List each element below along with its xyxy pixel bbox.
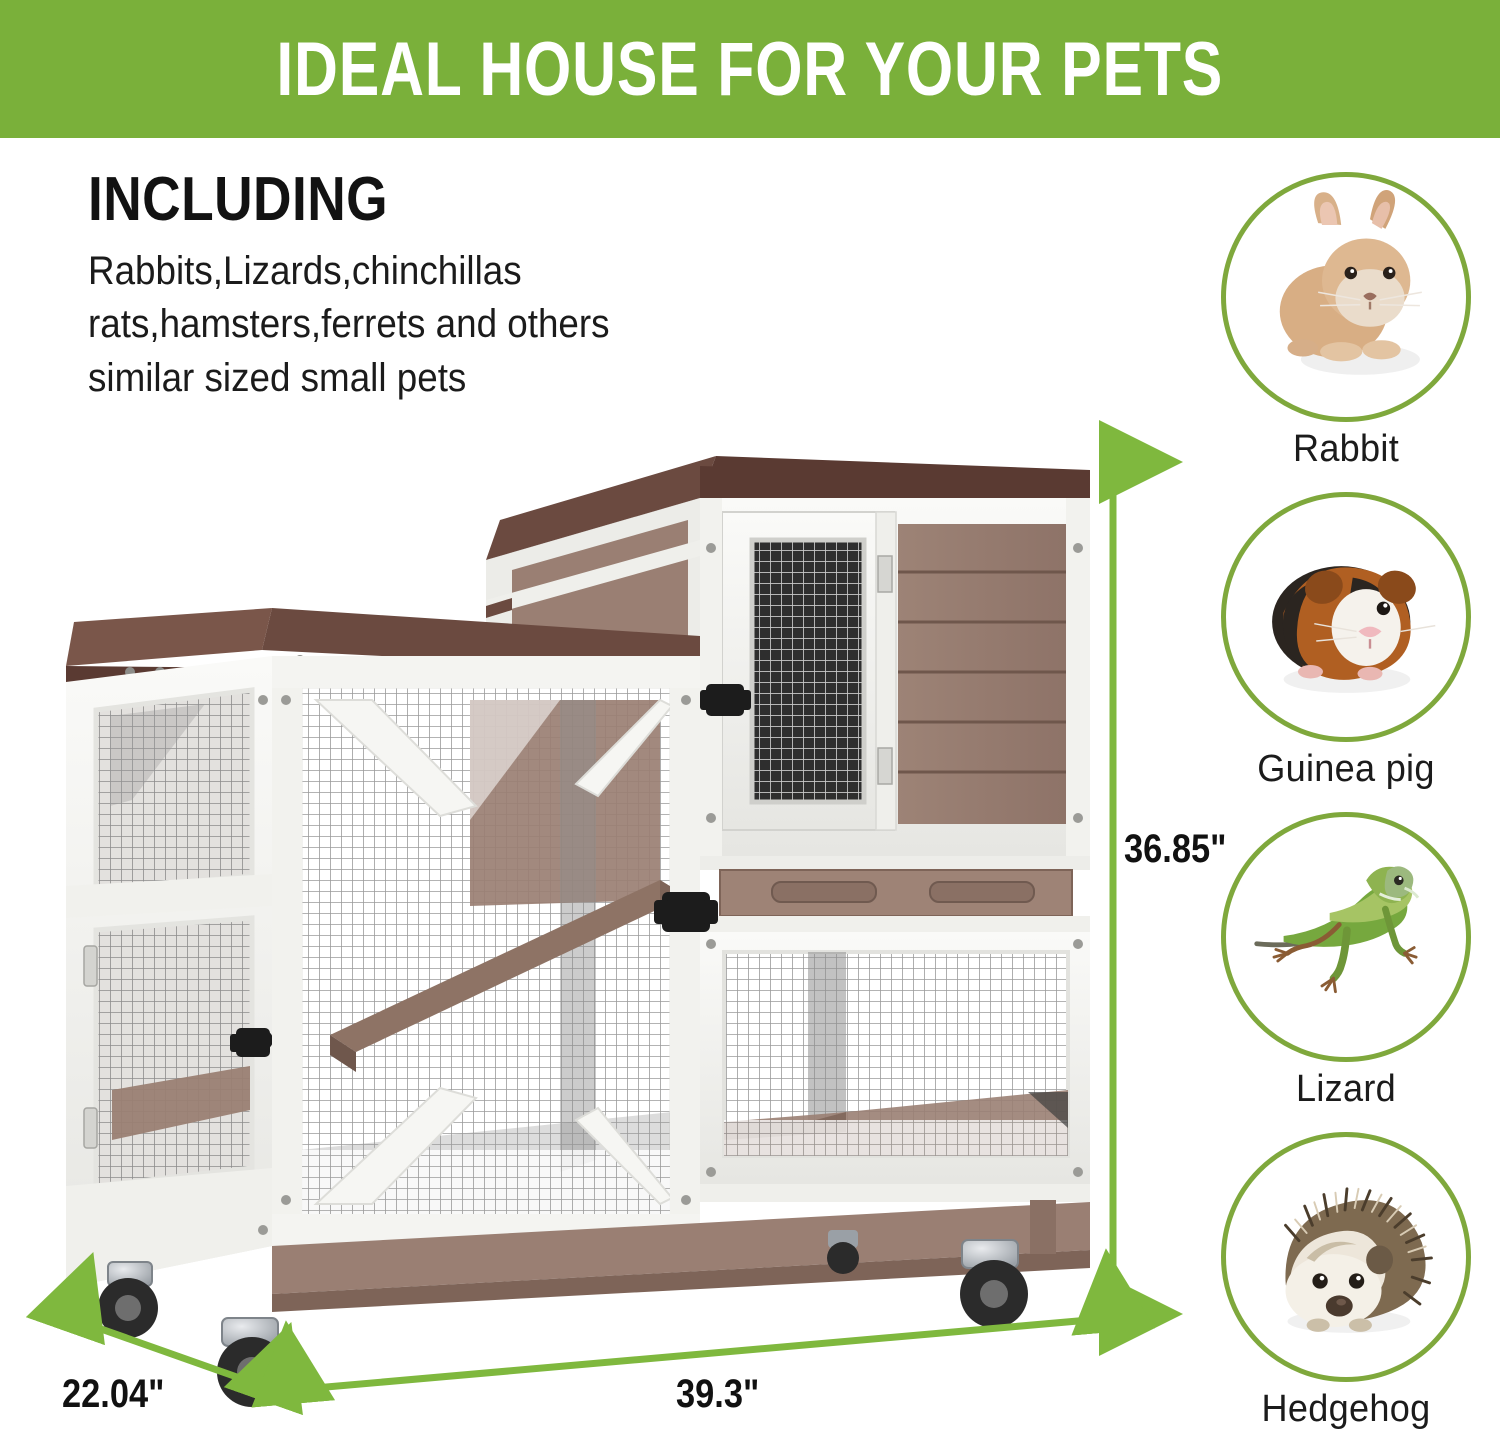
run-front-door[interactable] [272, 656, 700, 1246]
run-left-end-panel [66, 656, 272, 1288]
lizard-photo-icon [1226, 817, 1466, 1057]
run-left-latch-icon [230, 1028, 273, 1057]
hutch-front-face [700, 498, 1090, 856]
depth-dimension-label: 22.04" [62, 1372, 164, 1417]
pet-label-guinea-pig: Guinea pig [1213, 748, 1479, 791]
rabbit-photo-icon [1226, 177, 1466, 417]
pet-circle-lizard [1221, 812, 1471, 1062]
lower-run-right [700, 932, 1090, 1202]
width-dimension-label: 39.3" [676, 1372, 759, 1417]
caster-wheel [217, 1318, 287, 1407]
pet-item-guinea-pig: Guinea pig [1206, 492, 1486, 812]
pet-circle-rabbit [1221, 172, 1471, 422]
pet-item-hedgehog: Hedgehog [1206, 1132, 1486, 1450]
guinea-pig-photo-icon [1226, 497, 1466, 737]
caster-wheel [960, 1240, 1028, 1328]
pet-label-lizard: Lizard [1213, 1068, 1479, 1111]
pet-circle-hedgehog [1221, 1132, 1471, 1382]
pet-label-rabbit: Rabbit [1213, 428, 1479, 471]
pet-item-rabbit: Rabbit [1206, 172, 1486, 492]
run-door-latch-icon [654, 892, 718, 932]
pet-circle-guinea-pig [1221, 492, 1471, 742]
caster-wheel [98, 1262, 158, 1338]
pet-list: Rabbit [1206, 172, 1486, 1450]
pet-item-lizard: Lizard [1206, 812, 1486, 1132]
pull-out-tray[interactable] [700, 856, 1090, 932]
caster-wheel [827, 1230, 859, 1274]
upper-door-latch-icon [700, 684, 751, 716]
hedgehog-photo-icon [1226, 1137, 1466, 1377]
pet-label-hedgehog: Hedgehog [1213, 1388, 1479, 1431]
